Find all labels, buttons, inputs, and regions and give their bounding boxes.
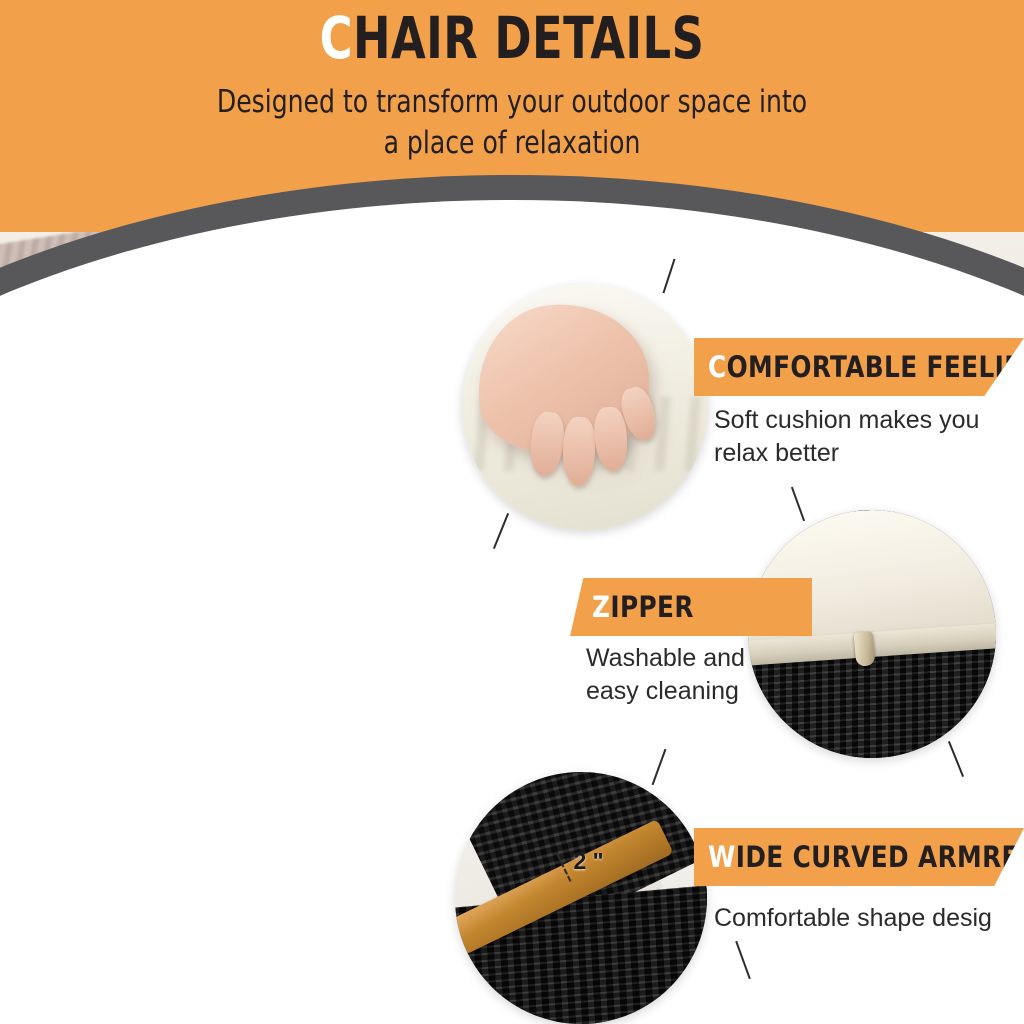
feature-description-wide-curved-armrest: Comfortable shape desig (714, 902, 1024, 935)
page-subtitle: Designed to transform your outdoor space… (51, 82, 973, 164)
feature-label-lead-letter: Z (592, 590, 610, 624)
feature-label-lead-letter: W (708, 840, 736, 874)
feature-banner-comfortable-feeling: COMFORTABLE FEELING (694, 338, 1024, 396)
zipper-pull-icon (853, 631, 875, 667)
feature-label-zipper: ZIPPER (592, 590, 694, 624)
feature-label-rest: IDE CURVED ARMREST (736, 840, 1024, 874)
feature-label-lead-letter: C (708, 350, 727, 384)
feature-description-comfortable-feeling: Soft cushion makes you relax better (714, 404, 1014, 470)
page-title-rest: HAIR DETAILS (353, 4, 704, 72)
feature-description-zipper: Washable and easy cleaning (586, 642, 816, 708)
armrest-photo: 2 " (455, 772, 707, 1024)
page-title-lead-letter: C (320, 4, 353, 72)
feature-label-wide-curved-armrest: WIDE CURVED ARMREST (708, 840, 1024, 874)
feature-image-wide-curved-armrest: 2 " (455, 772, 707, 1024)
feature-banner-wide-curved-armrest: WIDE CURVED ARMREST (694, 828, 1024, 886)
feature-image-comfortable-feeling (462, 284, 708, 530)
feature-label-rest: IPPER (610, 590, 693, 624)
feature-banner-zipper: ZIPPER (570, 578, 812, 636)
infographic-canvas: CHAIR DETAILS Designed to transform your… (0, 0, 1024, 1024)
page-title: CHAIR DETAILS (72, 8, 953, 69)
armrest-dimension-label: 2 " (573, 848, 603, 875)
feature-label-rest: OMFORTABLE FEELING (727, 350, 1024, 384)
feature-label-comfortable-feeling: COMFORTABLE FEELING (708, 350, 1024, 384)
